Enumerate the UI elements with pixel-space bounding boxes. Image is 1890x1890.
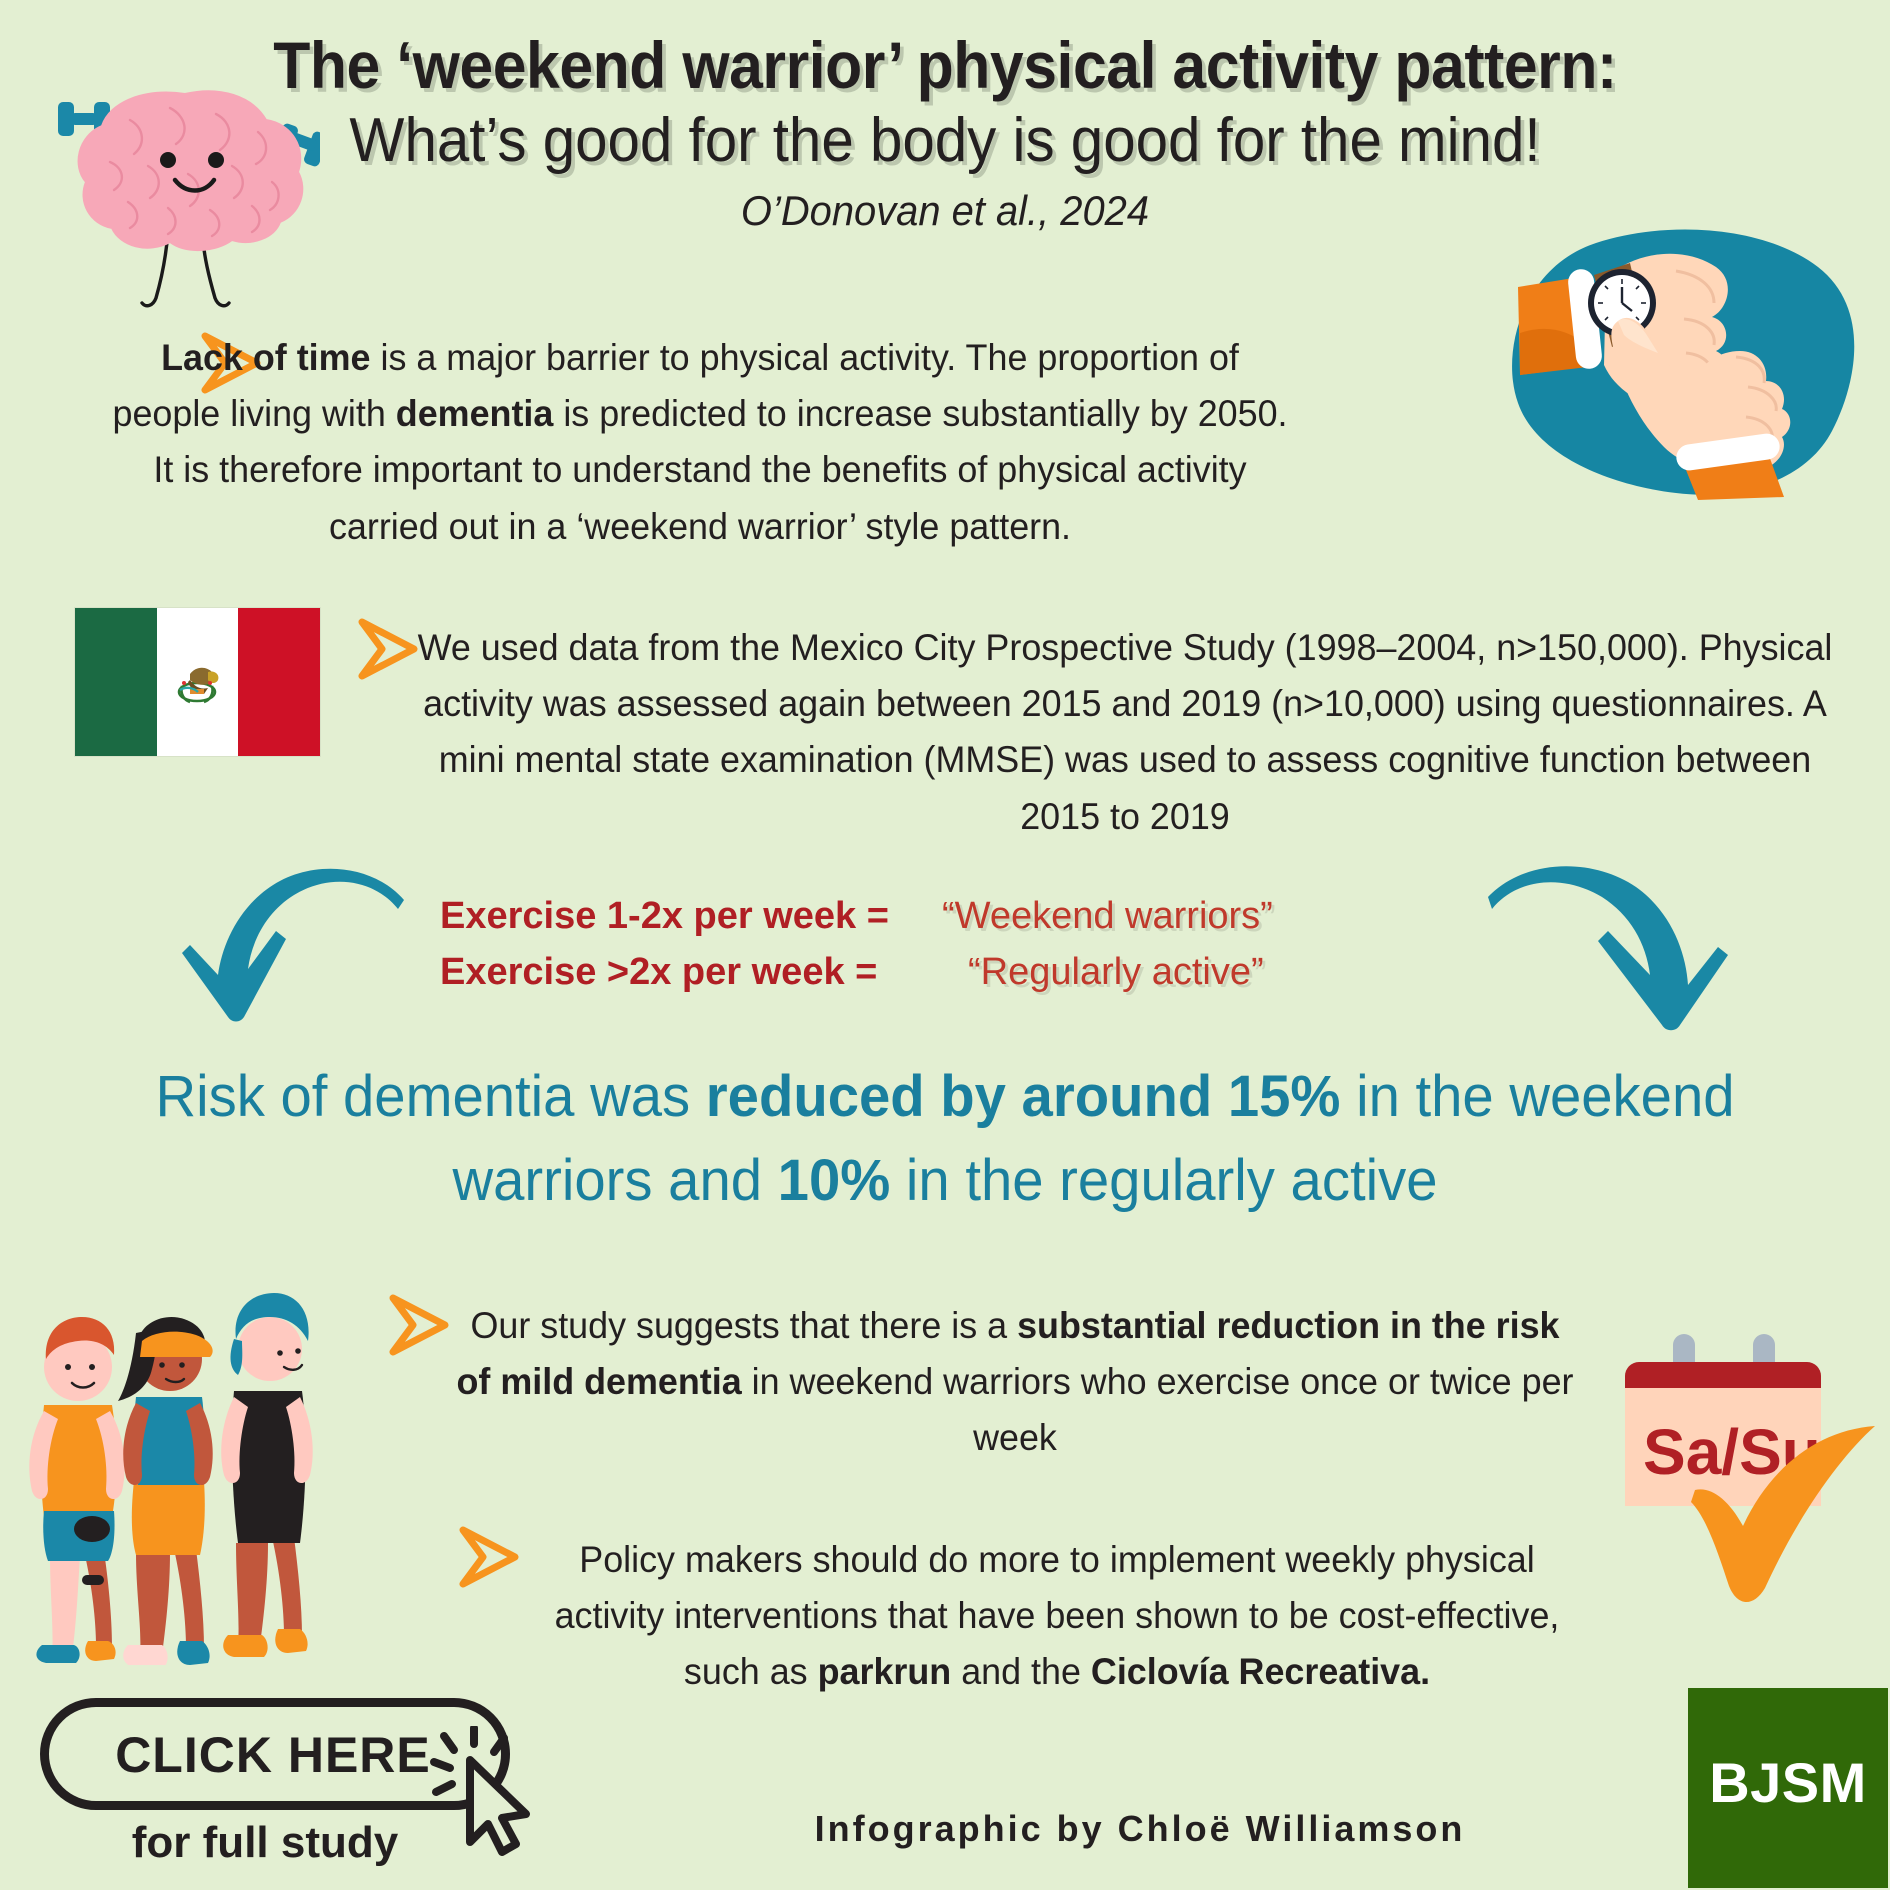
infographic-canvas: The ‘weekend warrior’ physical activity …	[0, 0, 1890, 1890]
body-text: and the	[951, 1651, 1091, 1692]
curved-down-arrow-icon	[160, 865, 410, 1030]
conclusion-chevron-marker	[383, 1292, 455, 1360]
emphasis-text: parkrun	[818, 1651, 952, 1692]
weekend-calendar-check-icon: Sa/Su	[1625, 1330, 1890, 1615]
three-runners-icon	[0, 1255, 340, 1665]
flag-band-red	[238, 608, 320, 756]
paragraph-policy: Policy makers should do more to implemen…	[528, 1532, 1585, 1701]
definition-right-1: “Weekend warriors”	[910, 895, 1273, 938]
page-title-line1: The ‘weekend warrior’ physical activity …	[76, 30, 1815, 101]
orange-chevron-icon	[383, 1292, 453, 1358]
emphasis-text: 10%	[778, 1148, 891, 1213]
orange-chevron-icon	[453, 1524, 523, 1590]
definition-left-2: Exercise >2x per week =	[440, 951, 910, 994]
emphasis-text: reduced by around 15%	[706, 1064, 1341, 1129]
body-text: in weekend warriors who exercise once or…	[742, 1361, 1574, 1458]
paragraph-intro: Lack of time is a major barrier to physi…	[103, 330, 1296, 555]
body-text: in the regularly active	[890, 1148, 1437, 1213]
click-here-label: CLICK HERE	[78, 1726, 468, 1784]
bjsm-logo: BJSM	[1688, 1688, 1888, 1888]
definitions-block: Exercise 1-2x per week = “Weekend warrio…	[440, 895, 1500, 1007]
paragraph-conclusion: Our study suggests that there is a subst…	[452, 1298, 1577, 1467]
paragraph-methods: We used data from the Mexico City Prospe…	[412, 620, 1838, 845]
click-here-sublabel: for full study	[90, 1818, 440, 1868]
body-text: We used data from the Mexico City Prospe…	[418, 627, 1833, 837]
mexico-flag-icon	[75, 608, 320, 756]
policy-chevron-marker	[453, 1524, 525, 1592]
infographic-credit: Infographic by Chloë Williamson	[690, 1808, 1590, 1850]
page-title-line2: What’s good for the body is good for the…	[57, 105, 1834, 176]
definition-left-1: Exercise 1-2x per week =	[440, 895, 910, 938]
emphasis-text: Ciclovía Recreativa.	[1091, 1651, 1430, 1692]
click-cursor-icon	[422, 1726, 542, 1856]
definition-right-2: “Regularly active”	[910, 951, 1264, 994]
bjsm-logo-text: BJSM	[1688, 1750, 1888, 1815]
hand-pointing-at-wristwatch-icon	[1500, 225, 1890, 500]
body-text: Risk of dementia was	[155, 1064, 705, 1129]
brain-with-dumbbells-icon	[20, 62, 320, 312]
emphasis-text: dementia	[396, 393, 554, 434]
curved-down-arrow-icon	[1480, 865, 1765, 1040]
click-here-button[interactable]: CLICK HERE for full study	[30, 1690, 540, 1870]
body-text: Our study suggests that there is a	[470, 1305, 1017, 1346]
emphasis-text: Lack of time	[161, 337, 370, 378]
key-finding-headline: Risk of dementia was reduced by around 1…	[96, 1055, 1794, 1223]
mexico-coat-of-arms-icon	[170, 656, 225, 708]
flag-band-green	[75, 608, 157, 756]
definition-row: Exercise 1-2x per week = “Weekend warrio…	[440, 895, 1500, 951]
definition-row: Exercise >2x per week = “Regularly activ…	[440, 951, 1500, 1007]
